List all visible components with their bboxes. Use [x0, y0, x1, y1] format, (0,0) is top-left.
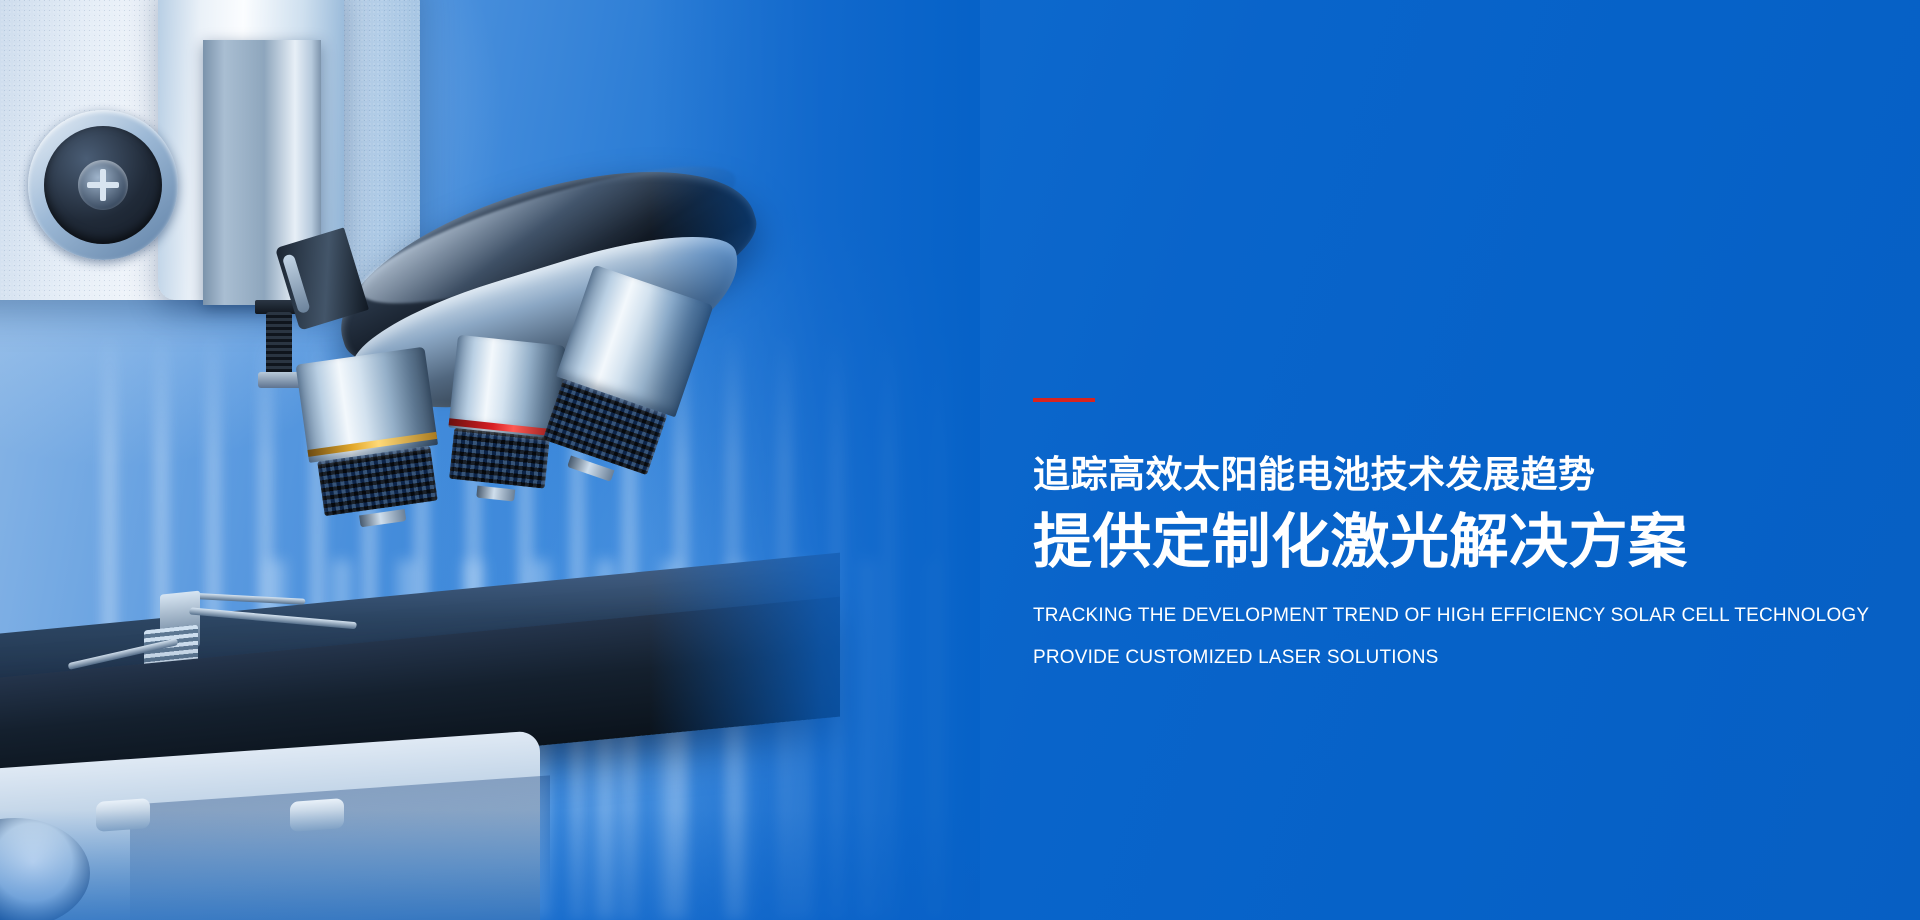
hero-banner: 追踪高效太阳能电池技术发展趋势 提供定制化激光解决方案 TRACKING THE… — [0, 0, 1920, 920]
hero-copy: 追踪高效太阳能电池技术发展趋势 提供定制化激光解决方案 TRACKING THE… — [1033, 398, 1833, 667]
english-subtitle-line-2: PROVIDE CUSTOMIZED LASER SOLUTIONS — [1033, 648, 1833, 667]
headline-subtitle: 追踪高效太阳能电池技术发展趋势 — [1033, 456, 1833, 493]
photo-right-fade — [650, 0, 980, 920]
thumb-screw — [266, 312, 292, 376]
focus-knob-inner — [44, 126, 162, 244]
focus-knob — [28, 110, 178, 260]
headline-title: 提供定制化激光解决方案 — [1033, 513, 1833, 572]
accent-rule — [1033, 398, 1095, 402]
focus-knob-screw — [78, 160, 128, 210]
objective-lens-gold — [295, 347, 446, 524]
clip-arm — [189, 607, 357, 629]
microscope-photo — [0, 0, 980, 920]
english-subtitle-line-1: TRACKING THE DEVELOPMENT TREND OF HIGH E… — [1033, 606, 1833, 625]
photo-bottom-fade — [0, 810, 980, 920]
thumb-screw-head — [258, 372, 302, 388]
